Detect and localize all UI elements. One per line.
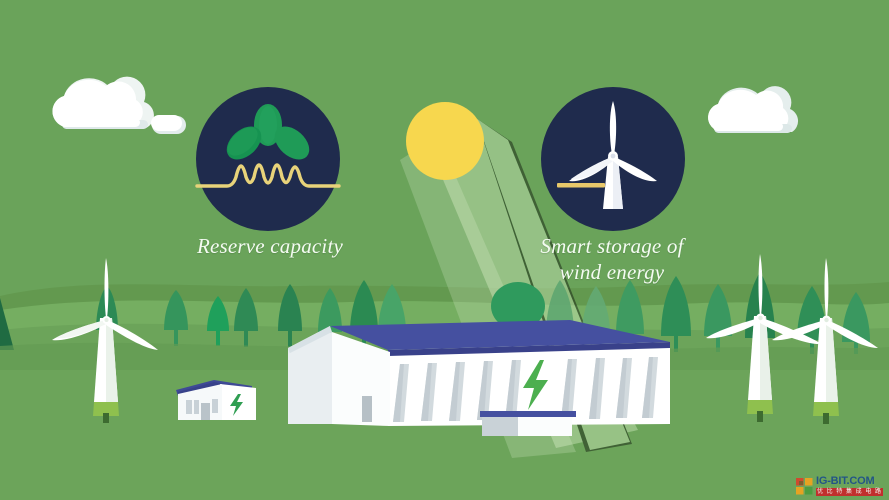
watermark-name: IG-BIT.COM bbox=[816, 476, 883, 487]
badge-reserve-capacity[interactable] bbox=[194, 85, 342, 233]
battery-storage-warehouse bbox=[270, 306, 690, 436]
grid-logo-icon bbox=[796, 478, 813, 495]
cloud-right bbox=[704, 84, 808, 140]
illustration-canvas: Reserve capacity Smart storage of wind e… bbox=[0, 0, 889, 500]
badge-smart-storage-wind[interactable] bbox=[539, 85, 687, 233]
badge-label-smart-storage: Smart storage of wind energy bbox=[512, 234, 712, 285]
badge-label-reserve-capacity: Reserve capacity bbox=[170, 234, 370, 260]
cloud-left-large bbox=[48, 74, 164, 134]
wind-turbine-right-front bbox=[768, 252, 888, 427]
sun bbox=[404, 100, 486, 182]
wind-turbine-left bbox=[46, 250, 166, 425]
watermark-subtitle: 优 比 特 集 成 电 路 bbox=[816, 488, 883, 496]
cloud-left-small bbox=[150, 110, 190, 138]
small-house bbox=[168, 372, 272, 426]
watermark: IG-BIT.COM 优 比 特 集 成 电 路 bbox=[796, 476, 883, 496]
